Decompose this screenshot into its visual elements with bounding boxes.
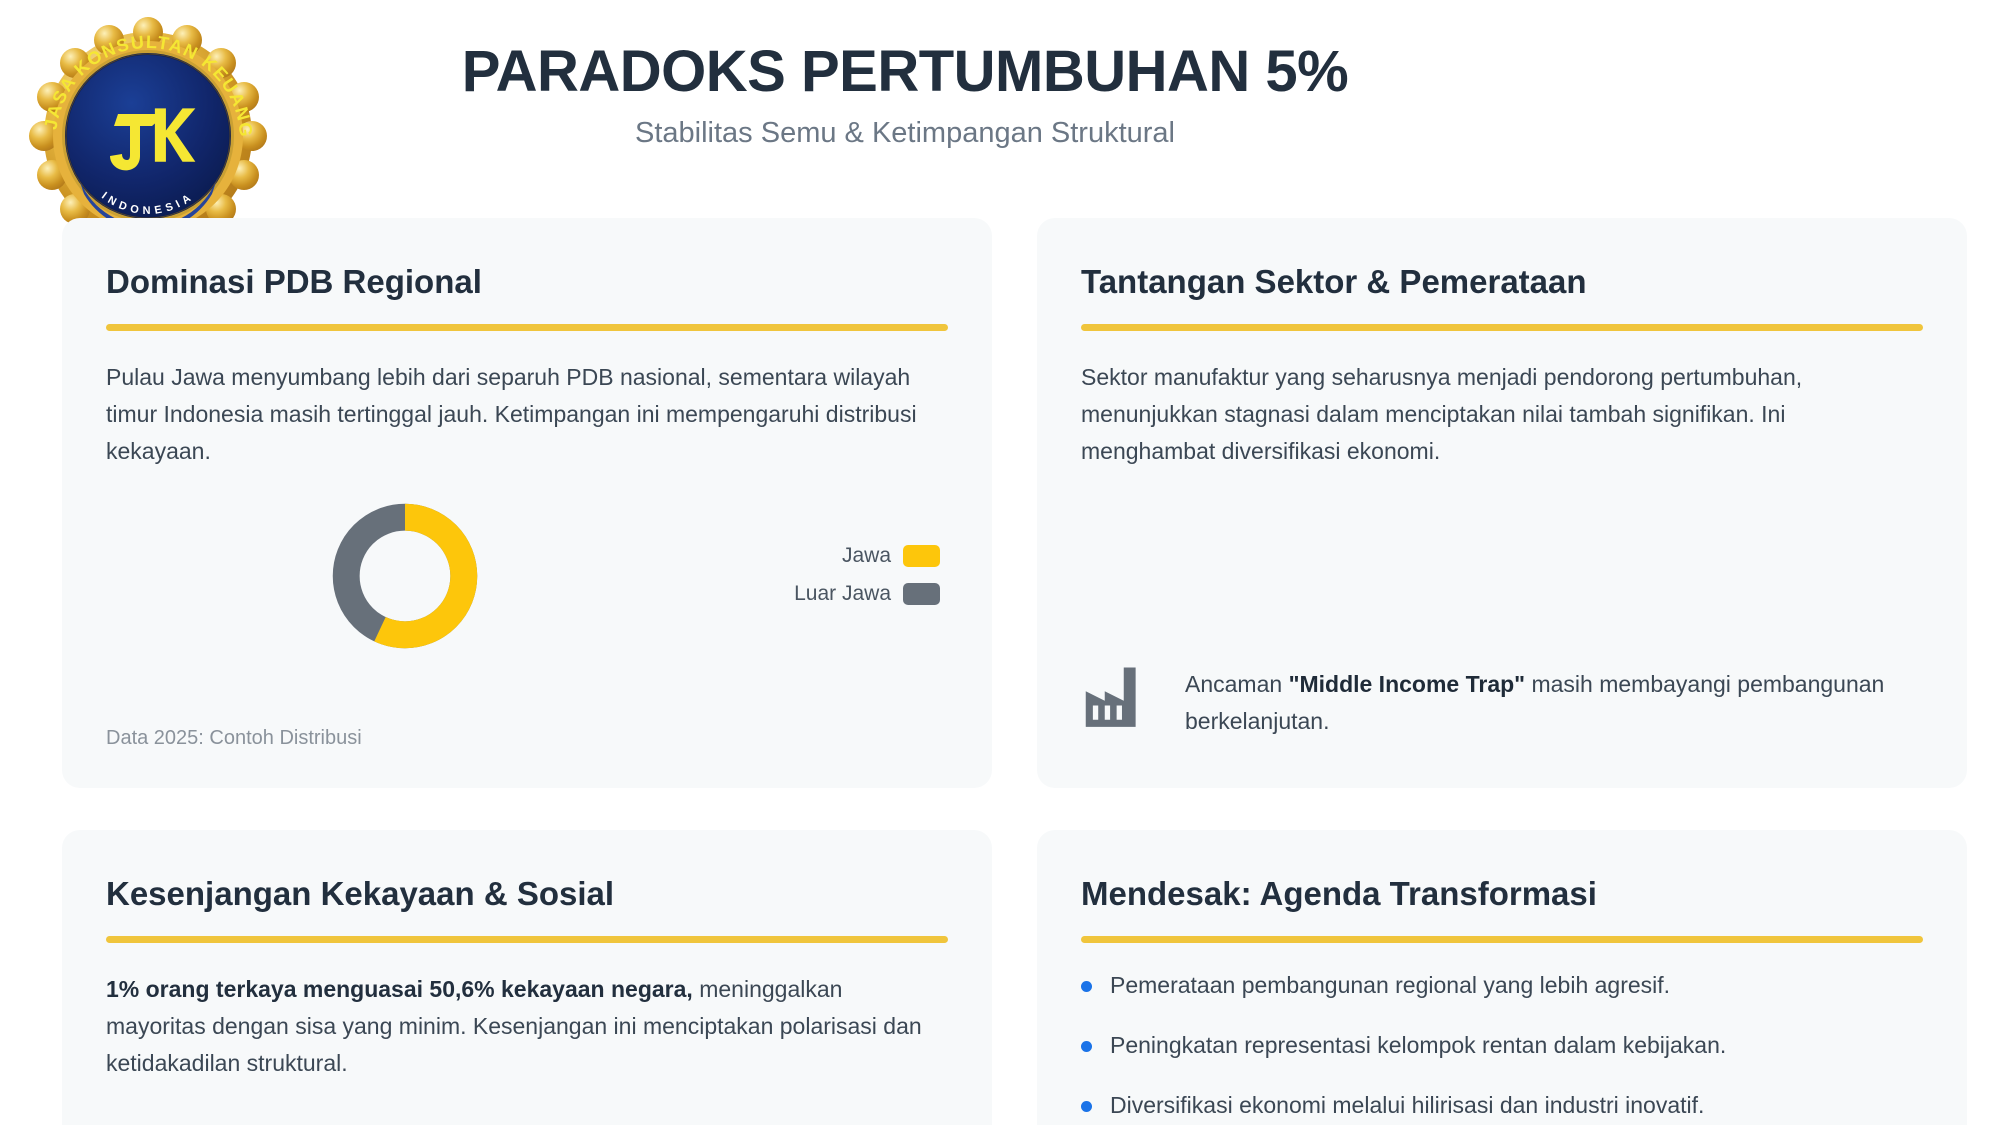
card-title: Dominasi PDB Regional (106, 262, 948, 302)
legend-item-luar-jawa: Luar Jawa (794, 582, 940, 606)
poster-page: PT. JASA KONSULTAN KEUANGAN INDONESIA PA… (0, 0, 2000, 1125)
legend-swatch-luar-jawa (903, 583, 940, 605)
accent-divider (106, 324, 948, 331)
list-item-label: Pemerataan pembangunan regional yang leb… (1110, 969, 1670, 1002)
bullet-dot-icon (1081, 1101, 1092, 1112)
legend-label-jawa: Jawa (842, 544, 891, 568)
bullet-dot-icon (1081, 981, 1092, 992)
card-agenda-transformasi: Mendesak: Agenda Transformasi Pemerataan… (1037, 830, 1967, 1125)
card-body-strong: 1% orang terkaya menguasai 50,6% kekayaa… (106, 976, 693, 1002)
middle-income-trap-callout: Ancaman "Middle Income Trap" masih memba… (1081, 660, 1923, 740)
factory-icon (1081, 660, 1157, 732)
chart-caption: Data 2025: Contoh Distribusi (106, 727, 362, 750)
card-title: Tantangan Sektor & Pemerataan (1081, 262, 1923, 302)
card-title: Kesenjangan Kekayaan & Sosial (106, 874, 948, 914)
legend-label-luar-jawa: Luar Jawa (794, 582, 891, 606)
callout-strong: "Middle Income Trap" (1289, 671, 1526, 697)
legend-item-jawa: Jawa (842, 544, 940, 568)
bullet-dot-icon (1081, 1041, 1092, 1052)
list-item: Peningkatan representasi kelompok rentan… (1081, 1029, 1923, 1062)
accent-divider (1081, 324, 1923, 331)
callout-text: Ancaman "Middle Income Trap" masih memba… (1185, 660, 1923, 740)
list-item-label: Diversifikasi ekonomi melalui hilirisasi… (1110, 1089, 1704, 1122)
agenda-bullet-list: Pemerataan pembangunan regional yang leb… (1081, 969, 1923, 1123)
card-body-text: 1% orang terkaya menguasai 50,6% kekayaa… (106, 971, 948, 1083)
card-tantangan-sektor: Tantangan Sektor & Pemerataan Sektor man… (1037, 218, 1967, 788)
page-title: PARADOKS PERTUMBUHAN 5% (290, 40, 1520, 105)
list-item: Pemerataan pembangunan regional yang leb… (1081, 969, 1923, 1002)
card-dominasi-pdb-regional: Dominasi PDB Regional Pulau Jawa menyumb… (62, 218, 992, 788)
accent-divider (1081, 936, 1923, 943)
card-kesenjangan-kekayaan: Kesenjangan Kekayaan & Sosial 1% orang t… (62, 830, 992, 1125)
card-body-text: Pulau Jawa menyumbang lebih dari separuh… (106, 359, 948, 471)
card-body-text: Sektor manufaktur yang seharusnya menjad… (1081, 359, 1923, 471)
list-item-label: Peningkatan representasi kelompok rentan… (1110, 1029, 1726, 1062)
chart-legend: Jawa Luar Jawa (794, 544, 940, 606)
card-grid: Dominasi PDB Regional Pulau Jawa menyumb… (62, 218, 1967, 1125)
list-item: Diversifikasi ekonomi melalui hilirisasi… (1081, 1089, 1923, 1122)
poster-header: PARADOKS PERTUMBUHAN 5% Stabilitas Semu … (290, 40, 2000, 151)
accent-divider (106, 936, 948, 943)
callout-lead: Ancaman (1185, 671, 1289, 697)
card-title: Mendesak: Agenda Transformasi (1081, 874, 1923, 914)
page-subtitle: Stabilitas Semu & Ketimpangan Struktural (290, 115, 1520, 151)
legend-swatch-jawa (903, 545, 940, 567)
donut-chart-icon (321, 492, 489, 660)
pdb-donut-chart: Jawa Luar Jawa (106, 492, 948, 682)
